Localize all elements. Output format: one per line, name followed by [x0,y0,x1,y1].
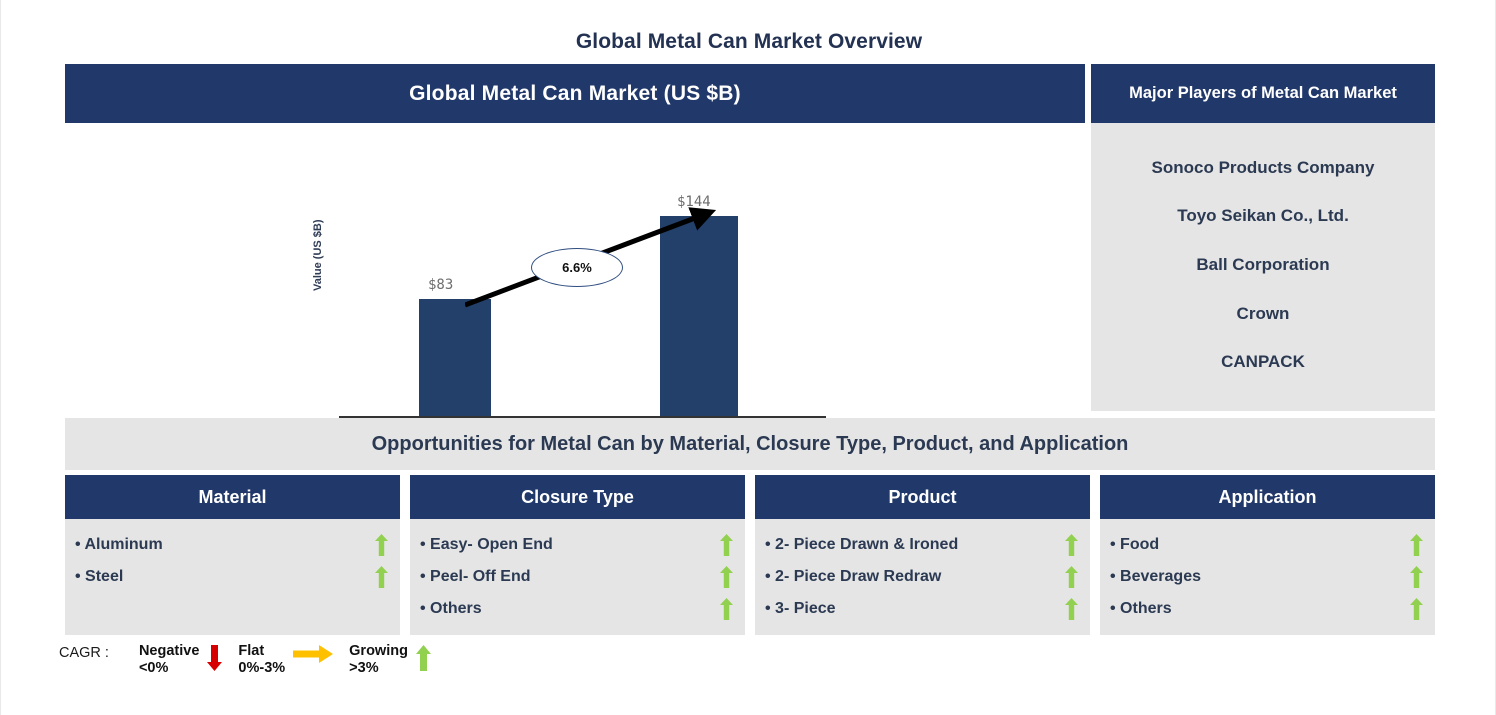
infographic-page: Global Metal Can Market Overview Global … [0,0,1496,715]
arrow-up-green-icon [1410,534,1423,556]
opportunity-label: • Others [418,600,482,618]
opportunity-columns: Material • Aluminum • Steel Closure Type… [65,475,1435,635]
legend-icon-flat [293,643,333,663]
list-item: • Easy- Open End [418,529,733,561]
list-item: Ball Corporation [1196,255,1329,275]
column-body-product: • 2- Piece Drawn & Ironed • 2- Piece Dra… [755,519,1090,635]
arrow-up-green-icon [416,645,431,671]
column-product: Product • 2- Piece Drawn & Ironed • 2- P… [755,475,1090,635]
arrow-up-green-icon [1410,566,1423,588]
opportunity-label: • Peel- Off End [418,568,531,586]
arrow-right-yellow-icon [293,645,333,663]
list-item: Sonoco Products Company [1152,158,1375,178]
cagr-legend-title: CAGR : [59,643,109,661]
legend-icon-negative [207,643,222,671]
bar-2035 [660,216,738,416]
list-item: • Aluminum [73,529,388,561]
legend-icon-growing [416,643,431,671]
players-card-header: Major Players of Metal Can Market [1091,64,1435,123]
legend-name-negative: Negative [139,643,199,660]
arrow-up-green-icon [1410,598,1423,620]
market-chart-card: Global Metal Can Market (US $B) Value (U… [65,64,1085,411]
list-item: Toyo Seikan Co., Ltd. [1177,206,1349,226]
chart-y-axis-label: Value (US $B) [312,219,324,291]
legend-item-growing: Growing >3% [349,643,439,677]
arrow-up-green-icon [720,598,733,620]
column-body-closure-type: • Easy- Open End • Peel- Off End • Other… [410,519,745,635]
arrow-up-green-icon [720,534,733,556]
arrow-up-green-icon [720,566,733,588]
opportunity-label: • Food [1108,536,1159,554]
arrow-up-green-icon [1065,566,1078,588]
list-item: • Steel [73,561,388,593]
column-header-application: Application [1100,475,1435,519]
arrow-up-green-icon [1065,534,1078,556]
opportunity-label: • Beverages [1108,568,1201,586]
arrow-up-green-icon [1065,598,1078,620]
page-title: Global Metal Can Market Overview [1,30,1496,54]
opportunity-label: • Others [1108,600,1172,618]
legend-text-growing: Growing >3% [349,643,408,677]
arrow-up-green-icon [375,566,388,588]
bar-value-2026: $83 [428,277,453,293]
arrow-down-red-icon [207,645,222,671]
chart-card-header: Global Metal Can Market (US $B) [65,64,1085,123]
list-item: CANPACK [1221,352,1305,372]
list-item: • Peel- Off End [418,561,733,593]
opportunity-label: • 2- Piece Draw Redraw [763,568,941,586]
column-header-product: Product [755,475,1090,519]
bar-value-2035: $144 [677,194,711,210]
major-players-card: Major Players of Metal Can Market Sonoco… [1091,64,1435,411]
legend-range-growing: >3% [349,660,408,677]
list-item: • Beverages [1108,561,1423,593]
column-body-application: • Food • Beverages • Others [1100,519,1435,635]
list-item: • Others [1108,593,1423,625]
legend-range-negative: <0% [139,660,199,677]
opportunity-label: • Easy- Open End [418,536,553,554]
opportunity-label: • Aluminum [73,536,163,554]
legend-name-flat: Flat [238,643,285,660]
list-item: Crown [1237,304,1290,324]
list-item: • Food [1108,529,1423,561]
bar-2026 [419,299,491,416]
cagr-legend: CAGR : Negative <0% Flat 0%-3% Growing >… [59,643,447,677]
opportunity-label: • 2- Piece Drawn & Ironed [763,536,958,554]
legend-item-negative: Negative <0% [139,643,230,677]
opportunities-banner: Opportunities for Metal Can by Material,… [65,418,1435,470]
legend-item-flat: Flat 0%-3% [238,643,341,677]
list-item: • 2- Piece Draw Redraw [763,561,1078,593]
opportunity-label: • 3- Piece [763,600,836,618]
legend-range-flat: 0%-3% [238,660,285,677]
column-material: Material • Aluminum • Steel [65,475,400,635]
legend-name-growing: Growing [349,643,408,660]
list-item: • 3- Piece [763,593,1078,625]
column-closure-type: Closure Type • Easy- Open End • Peel- Of… [410,475,745,635]
column-header-closure-type: Closure Type [410,475,745,519]
opportunity-label: • Steel [73,568,123,586]
legend-text-negative: Negative <0% [139,643,199,677]
column-application: Application • Food • Beverages • Others [1100,475,1435,635]
list-item: • Others [418,593,733,625]
legend-text-flat: Flat 0%-3% [238,643,285,677]
column-body-material: • Aluminum • Steel [65,519,400,635]
players-list: Sonoco Products Company Toyo Seikan Co.,… [1091,123,1435,411]
market-bar-chart: Value (US $B) $83 $144 2026 2035 6.6% So… [65,123,1085,411]
column-header-material: Material [65,475,400,519]
cagr-callout: 6.6% [531,248,623,287]
list-item: • 2- Piece Drawn & Ironed [763,529,1078,561]
arrow-up-green-icon [375,534,388,556]
